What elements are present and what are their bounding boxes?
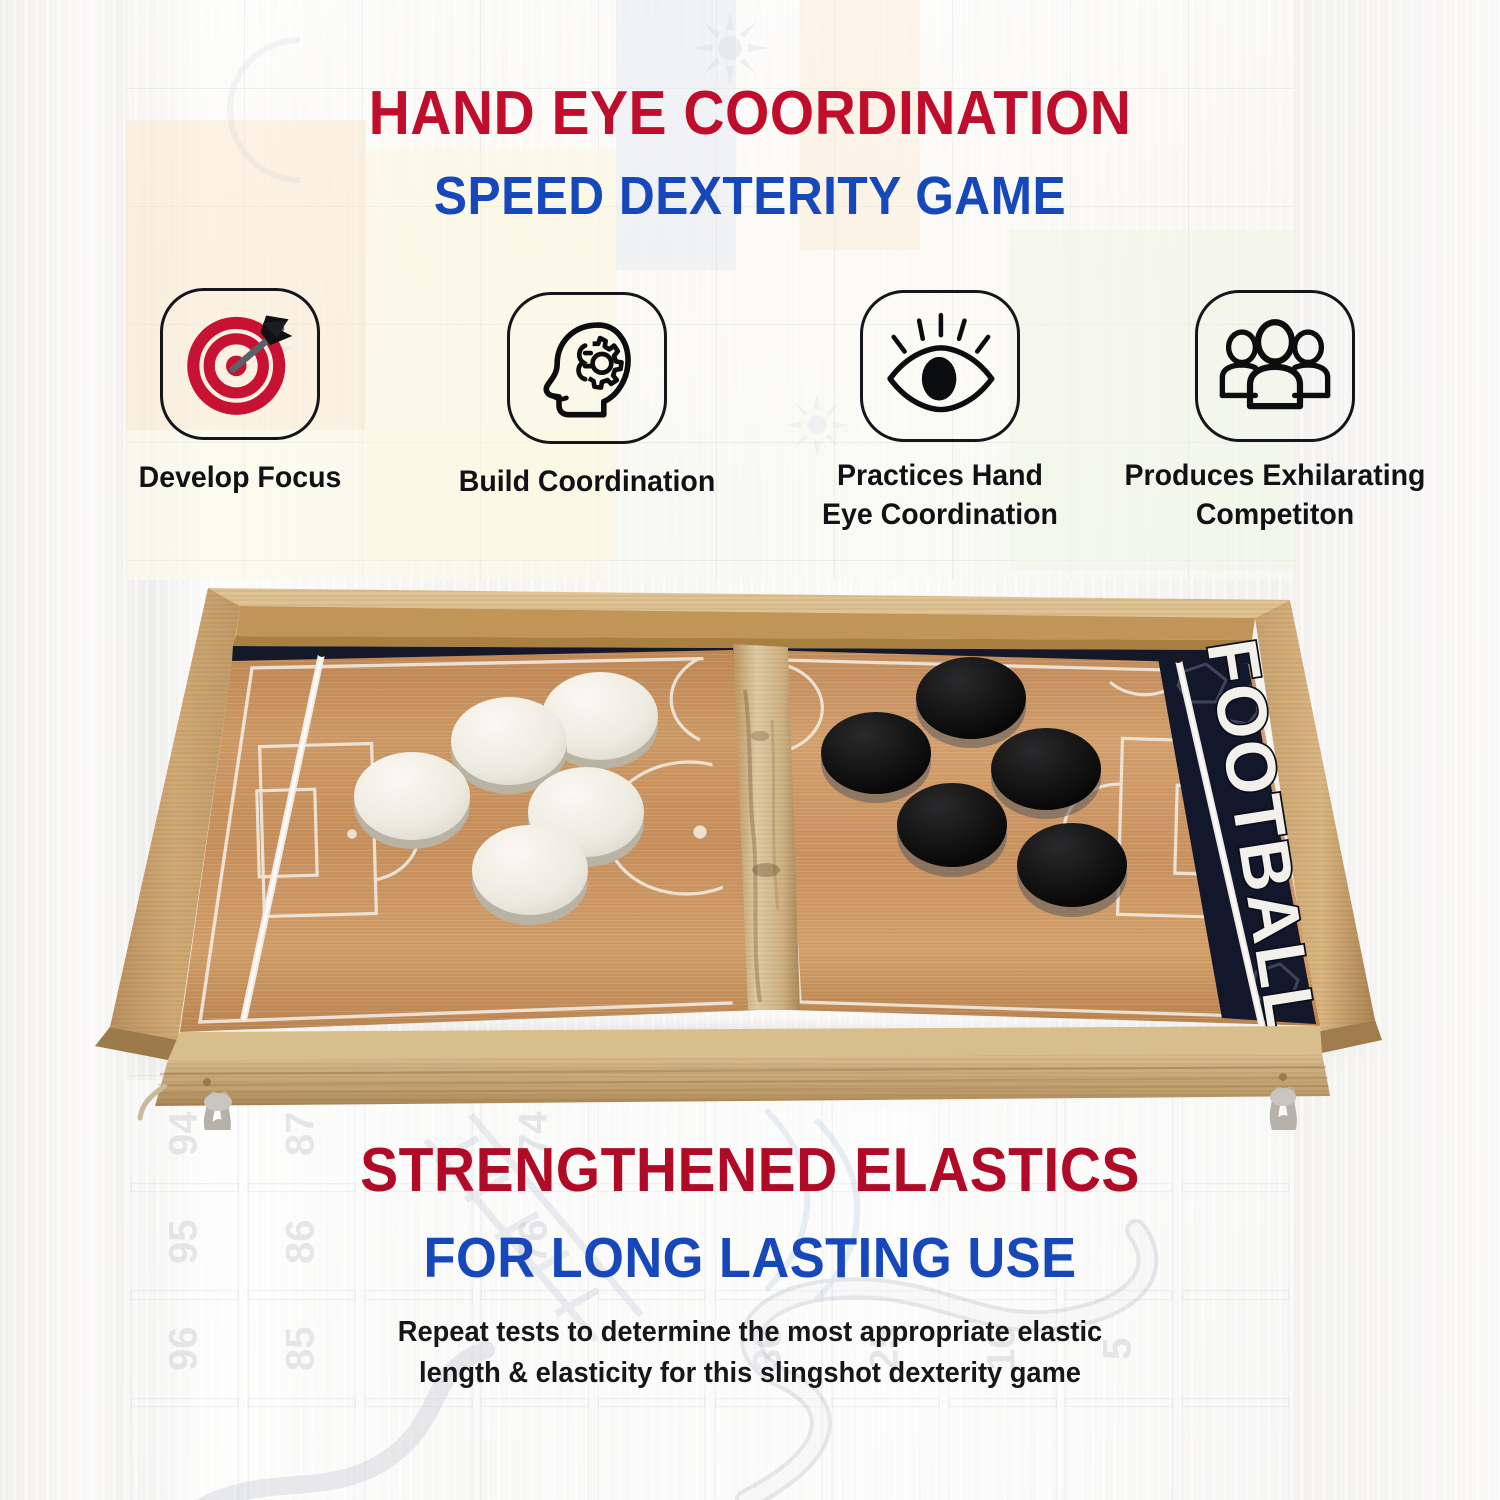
headline-quaternary: FOR LONG LASTING USE: [60, 1225, 1440, 1291]
puck-black: [916, 657, 1026, 748]
puck-white: [354, 752, 470, 849]
feature-label-line2: Eye Coordination: [822, 498, 1058, 531]
subcopy-line1: Repeat tests to determine the most appro…: [45, 1312, 1455, 1353]
feature-label: Develop Focus: [117, 458, 364, 497]
feature-build-coordination: Build Coordination: [437, 292, 737, 501]
feature-label: Build Coordination: [445, 462, 730, 501]
feature-label: Produces Exhilarating Competiton: [1118, 456, 1432, 534]
feature-benefits-row: Develop Focus: [0, 288, 1500, 558]
feature-develop-focus: Develop Focus: [110, 288, 370, 497]
feature-label-line2: Competiton: [1196, 498, 1354, 531]
product-image-sling-puck-board: FOOTBALL: [0, 540, 1500, 1130]
headline-primary: HAND EYE COORDINATION: [60, 78, 1440, 149]
elastic-knot-left: [204, 1093, 232, 1130]
feature-label: Practices Hand Eye Coordination: [807, 456, 1073, 534]
target-dartboard-icon: [184, 308, 296, 420]
puck-black: [991, 728, 1101, 819]
head-brain-gear-icon-box: [507, 292, 667, 444]
subcopy-paragraph: Repeat tests to determine the most appro…: [45, 1312, 1455, 1394]
group-people-icon-box: [1195, 290, 1355, 442]
sunburst-icon: [690, 8, 770, 88]
target-dartboard-icon-box: [160, 288, 320, 440]
elastic-knot-right: [1270, 1088, 1296, 1130]
puck-black: [897, 783, 1007, 877]
feature-hand-eye-coordination: Practices Hand Eye Coordination: [800, 290, 1080, 534]
puck-white: [472, 825, 588, 925]
subcopy-line2: length & elasticity for this slingshot d…: [45, 1353, 1455, 1394]
board-front-rail: [155, 1026, 1330, 1106]
feature-label-line1: Practices Hand: [837, 459, 1043, 492]
feature-exhilarating-competition: Produces Exhilarating Competiton: [1110, 290, 1440, 534]
headline-secondary: SPEED DEXTERITY GAME: [60, 165, 1440, 227]
eye-icon: [881, 310, 999, 422]
headline-tertiary: STRENGTHENED ELASTICS: [60, 1135, 1440, 1206]
feature-label-line1: Produces Exhilarating: [1125, 459, 1426, 492]
puck-black: [821, 712, 931, 803]
eye-icon-box: [860, 290, 1020, 442]
puck-black: [1017, 823, 1127, 917]
poster-canvas: 94 87 74 95 86 76 96 85 36 25 16 5: [0, 0, 1500, 1500]
group-people-icon: [1217, 316, 1333, 416]
head-brain-gear-icon: [531, 312, 643, 424]
